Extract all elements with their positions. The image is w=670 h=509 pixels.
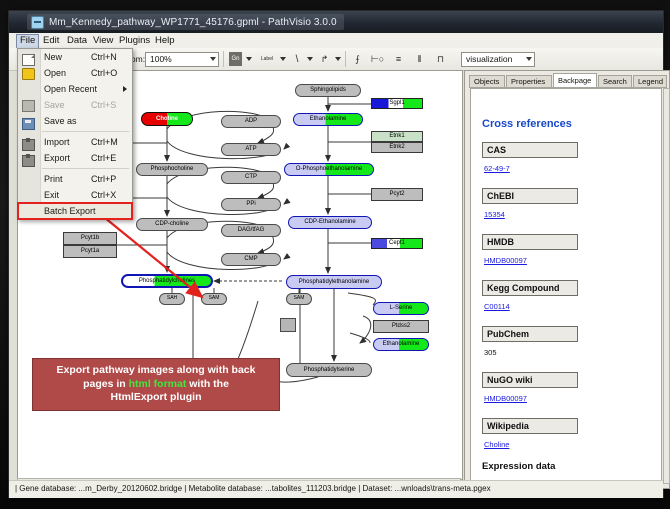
node-atp[interactable]: ATP bbox=[221, 143, 281, 156]
node-cmp[interactable]: CMP bbox=[221, 253, 281, 266]
menu-item-export[interactable]: Export Ctrl+E bbox=[18, 150, 132, 166]
callout-line3: HtmlExport plugin bbox=[111, 391, 202, 403]
node-adp[interactable]: ADP bbox=[221, 115, 281, 128]
menu-edit[interactable]: Edit bbox=[39, 34, 63, 47]
chevron-down-icon bbox=[526, 57, 532, 61]
xref-header-wikipedia: Wikipedia bbox=[482, 418, 578, 434]
callout-line1: Export pathway images along with back bbox=[57, 364, 256, 376]
menu-separator bbox=[42, 131, 129, 132]
menu-item-shortcut: Ctrl+P bbox=[91, 174, 116, 184]
window-title: Mm_Kennedy_pathway_WP1771_45176.gpml - P… bbox=[49, 17, 337, 28]
stack-button[interactable]: ≡ bbox=[392, 52, 405, 66]
pathvisio-icon bbox=[31, 16, 44, 29]
xref-header-nugo: NuGO wiki bbox=[482, 372, 578, 388]
title-bar: Mm_Kennedy_pathway_WP1771_45176.gpml - P… bbox=[9, 11, 663, 34]
menu-file[interactable]: File bbox=[16, 34, 39, 49]
node-pcyt1b[interactable]: Pcyt1b bbox=[63, 232, 117, 245]
node-sgpl1[interactable]: Sgpl1 bbox=[371, 98, 423, 109]
align-button[interactable]: ⊢○ bbox=[371, 52, 384, 66]
xref-value-cas[interactable]: 62-49-7 bbox=[484, 164, 510, 173]
xref-value-wikipedia[interactable]: Choline bbox=[484, 440, 509, 449]
xref-header-pubchem: PubChem bbox=[482, 326, 578, 342]
xref-value-kegg[interactable]: C00114 bbox=[484, 302, 510, 311]
menu-item-label: Print bbox=[44, 174, 63, 184]
node-sam-pe[interactable]: SAM bbox=[286, 293, 312, 305]
menu-item-import[interactable]: Import Ctrl+M bbox=[18, 134, 132, 150]
xref-value-hmdb[interactable]: HMDB00097 bbox=[484, 256, 527, 265]
cross-references-heading: Cross references bbox=[482, 118, 572, 130]
node-ethanolamine-bottom[interactable]: Ethanolamine bbox=[373, 338, 429, 351]
xref-value-nugo[interactable]: HMDB00097 bbox=[484, 394, 527, 403]
menu-item-print[interactable]: Print Ctrl+P bbox=[18, 171, 132, 187]
menu-item-label: Open Recent bbox=[44, 84, 97, 94]
submenu-arrow-icon bbox=[123, 86, 127, 92]
menu-item-batch-export[interactable]: Batch Export bbox=[18, 203, 132, 219]
node-pcyt1a[interactable]: Pcyt1a bbox=[63, 245, 117, 258]
label-dropdown-icon[interactable] bbox=[280, 57, 286, 61]
desktop-background: Mm_Kennedy_pathway_WP1771_45176.gpml - P… bbox=[0, 0, 670, 509]
node-phosphocholine[interactable]: Phosphocholine bbox=[136, 163, 208, 176]
datanode-button[interactable]: Gn bbox=[229, 52, 242, 66]
file-dropdown-menu: New Ctrl+N Open Ctrl+O Open Recent Save … bbox=[17, 48, 133, 220]
annotation-callout: Export pathway images along with back pa… bbox=[32, 358, 280, 411]
side-panel: Objects Properties Backpage Search Legen… bbox=[464, 70, 670, 489]
node-cdp-ethanolamine[interactable]: CDP-Ethanolamine bbox=[288, 216, 372, 229]
node-phosphatidylserine[interactable]: Phosphatidylserine bbox=[286, 363, 372, 377]
backpage-content: Cross references CAS 62-49-7 ChEBI 15354… bbox=[470, 88, 662, 484]
distribute-button[interactable]: ⦀ bbox=[413, 52, 426, 66]
menu-item-shortcut: Ctrl+N bbox=[91, 52, 117, 62]
menu-item-label: Open bbox=[44, 68, 66, 78]
node-choline-top[interactable]: Choline bbox=[141, 112, 193, 126]
node-phosphatidylethanolamine[interactable]: Phosphatidylethanolamine bbox=[286, 275, 382, 289]
menu-plugins[interactable]: Plugins bbox=[115, 34, 154, 47]
interaction-button[interactable]: ↱ bbox=[318, 52, 331, 66]
node-ethanolamine-top[interactable]: Ethanolamine bbox=[293, 113, 363, 126]
save-as-icon bbox=[22, 118, 35, 130]
menu-item-shortcut: Ctrl+X bbox=[91, 190, 116, 200]
expression-data-heading: Expression data bbox=[482, 461, 555, 472]
visualization-value: visualization bbox=[466, 54, 512, 65]
xref-value-pubchem: 305 bbox=[484, 348, 497, 357]
node-sam-right[interactable]: SAM bbox=[201, 293, 227, 305]
node-etnk1[interactable]: Etnk1 bbox=[371, 131, 423, 142]
menu-separator bbox=[42, 168, 129, 169]
datanode-dropdown-icon[interactable] bbox=[246, 57, 252, 61]
node-ctp[interactable]: CTP bbox=[221, 171, 281, 184]
menu-item-exit[interactable]: Exit Ctrl+X bbox=[18, 187, 132, 203]
xref-value-chebi[interactable]: 15354 bbox=[484, 210, 505, 219]
menu-view[interactable]: View bbox=[89, 34, 117, 47]
menu-item-open-recent[interactable]: Open Recent bbox=[18, 81, 132, 97]
anchor-button[interactable]: ⨍ bbox=[351, 52, 364, 66]
node-o-phosphoethanolamine[interactable]: O-Phosphoethanolamine bbox=[284, 163, 374, 176]
menu-item-shortcut: Ctrl+M bbox=[91, 137, 118, 147]
menu-item-open[interactable]: Open Ctrl+O bbox=[18, 65, 132, 81]
menu-item-shortcut: Ctrl+O bbox=[91, 68, 117, 78]
label-button[interactable]: Label bbox=[257, 52, 277, 66]
menu-bar: File Edit Data View Plugins Help bbox=[9, 33, 663, 49]
interaction-dropdown-icon[interactable] bbox=[335, 57, 341, 61]
menu-item-shortcut: Ctrl+S bbox=[91, 100, 116, 110]
node-sphingolipids[interactable]: Sphingolipids bbox=[295, 84, 361, 97]
node-pcyt2[interactable]: Pcyt2 bbox=[371, 188, 423, 201]
callout-html-format: html format bbox=[129, 378, 187, 390]
export-icon bbox=[22, 155, 35, 167]
menu-help[interactable]: Help bbox=[151, 34, 179, 47]
panel-tab-strip: Objects Properties Backpage Search Legen… bbox=[469, 73, 667, 88]
node-cept1[interactable]: Cept1 bbox=[371, 238, 423, 249]
menu-item-label: Save bbox=[44, 100, 65, 110]
status-text: | Gene database: ...m_Derby_20120602.bri… bbox=[15, 484, 491, 493]
node-ptdss2[interactable]: Ptdss2 bbox=[373, 320, 429, 333]
status-bar: | Gene database: ...m_Derby_20120602.bri… bbox=[9, 480, 663, 498]
zoom-value: 100% bbox=[150, 54, 172, 65]
xref-header-kegg: Kegg Compound bbox=[482, 280, 578, 296]
menu-item-label: New bbox=[44, 52, 62, 62]
node-l-serine[interactable]: L-Serine bbox=[373, 302, 429, 315]
callout-line2-a: pages in bbox=[83, 378, 129, 390]
group-button[interactable]: ⊓ bbox=[434, 52, 447, 66]
chevron-down-icon bbox=[210, 57, 216, 61]
pathway-connector-stub bbox=[280, 318, 296, 332]
node-dag[interactable]: DAG/tfAG bbox=[221, 224, 281, 237]
node-ppi[interactable]: PPi bbox=[221, 198, 281, 211]
line-button[interactable]: \ bbox=[291, 52, 303, 66]
tab-backpage[interactable]: Backpage bbox=[553, 73, 597, 88]
menu-item-label: Save as bbox=[44, 116, 77, 126]
visualization-combo[interactable]: visualization bbox=[461, 52, 535, 67]
menu-item-label: Exit bbox=[44, 190, 59, 200]
zoom-combo[interactable]: 100% bbox=[145, 52, 219, 67]
xref-header-chebi: ChEBI bbox=[482, 188, 578, 204]
menu-item-new[interactable]: New Ctrl+N bbox=[18, 49, 132, 65]
menu-item-shortcut: Ctrl+E bbox=[91, 153, 116, 163]
xref-header-cas: CAS bbox=[482, 142, 578, 158]
menu-item-label: Batch Export bbox=[44, 206, 96, 216]
callout-line2-b: with the bbox=[186, 378, 229, 390]
node-cdp-choline[interactable]: CDP-choline bbox=[136, 218, 208, 231]
menu-item-save: Save Ctrl+S bbox=[18, 97, 132, 113]
open-folder-icon bbox=[22, 68, 35, 80]
application-window: Mm_Kennedy_pathway_WP1771_45176.gpml - P… bbox=[8, 10, 664, 498]
node-sah-left[interactable]: SAH bbox=[159, 293, 185, 305]
menu-data[interactable]: Data bbox=[63, 34, 91, 47]
menu-item-label: Export bbox=[44, 153, 70, 163]
xref-header-hmdb: HMDB bbox=[482, 234, 578, 250]
node-phosphatidylcholines[interactable]: Phosphatidylcholines bbox=[121, 274, 213, 288]
line-dropdown-icon[interactable] bbox=[307, 57, 313, 61]
menu-item-label: Import bbox=[44, 137, 70, 147]
node-etnk2[interactable]: Etnk2 bbox=[371, 142, 423, 153]
save-icon bbox=[22, 100, 35, 112]
menu-item-save-as[interactable]: Save as bbox=[18, 113, 132, 129]
panel-vertical-scrollbar[interactable] bbox=[663, 88, 670, 484]
